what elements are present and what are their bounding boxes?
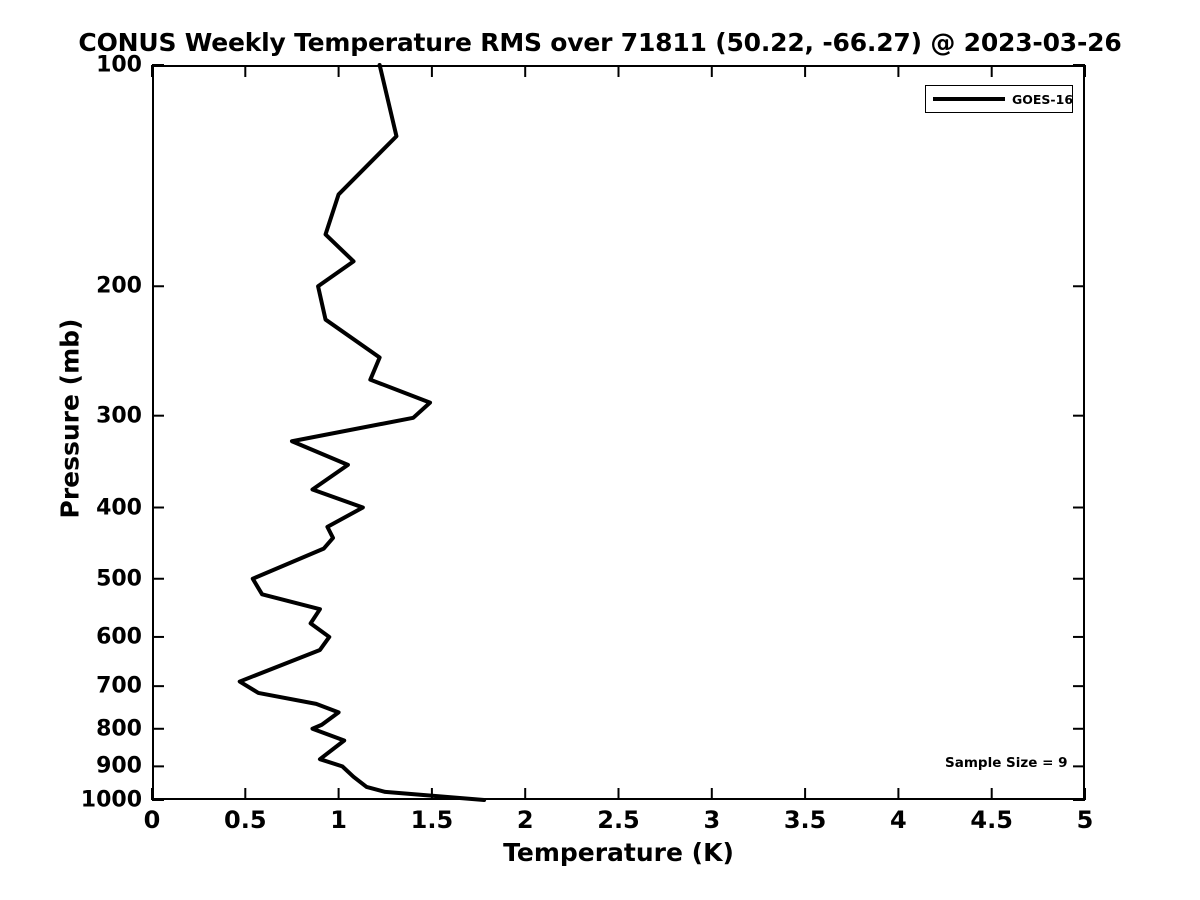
y-tick-label: 100	[20, 53, 142, 78]
y-tick-label: 500	[20, 566, 142, 591]
y-tick-label: 1000	[20, 788, 142, 813]
x-tick-label: 4.5	[970, 806, 1013, 834]
plot-axes-frame	[152, 65, 1085, 800]
sample-size-annotation: Sample Size = 9	[945, 755, 1068, 771]
y-tick-label: 600	[20, 624, 142, 649]
x-tick-label: 4	[890, 806, 907, 834]
x-tick-label: 2.5	[597, 806, 640, 834]
x-tick-label: 0	[144, 806, 161, 834]
chart-title: CONUS Weekly Temperature RMS over 71811 …	[0, 28, 1200, 57]
x-tick-label: 5	[1077, 806, 1094, 834]
x-tick-label: 3.5	[784, 806, 827, 834]
x-tick-label: 2	[517, 806, 534, 834]
legend-line-swatch-goes-16	[933, 97, 1005, 101]
legend-label-goes-16: GOES-16	[1012, 92, 1073, 107]
x-tick-label: 1.5	[411, 806, 454, 834]
x-tick-label: 1	[330, 806, 347, 834]
y-axis-title: Pressure (mb)	[56, 289, 85, 549]
x-axis-title: Temperature (K)	[152, 838, 1085, 867]
y-tick-label: 800	[20, 716, 142, 741]
y-tick-label: 900	[20, 754, 142, 779]
x-tick-label: 0.5	[224, 806, 267, 834]
x-tick-label: 3	[703, 806, 720, 834]
y-tick-label: 700	[20, 674, 142, 699]
chart-legend: GOES-16	[925, 85, 1073, 113]
chart-figure: CONUS Weekly Temperature RMS over 71811 …	[0, 0, 1200, 900]
